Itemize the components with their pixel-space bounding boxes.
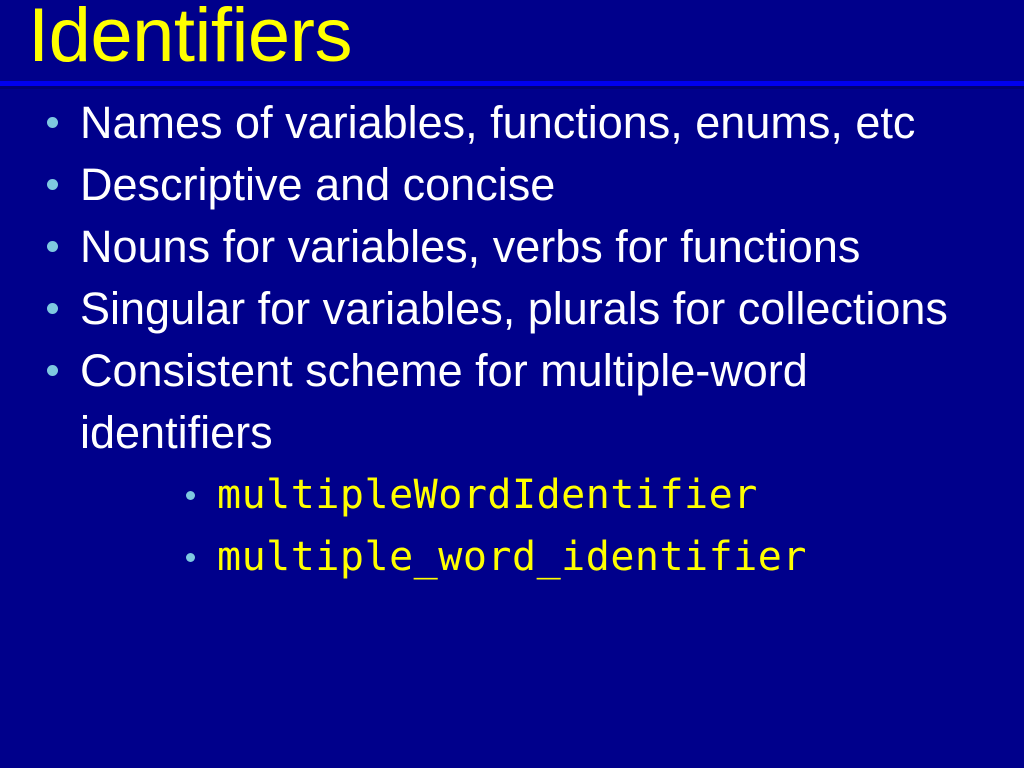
list-item-label: Consistent scheme for multiple-word iden… [80, 345, 808, 458]
list-item-label: Descriptive and concise [80, 159, 555, 210]
sub-list-item: multiple_word_identifier [80, 526, 1004, 588]
list-item-label: Nouns for variables, verbs for functions [80, 221, 860, 272]
slide-title-area: Identifiers [0, 0, 1024, 82]
bullet-dot-icon [47, 303, 58, 314]
sub-bullet-list: multipleWordIdentifier multiple_word_ide… [80, 464, 1004, 588]
sub-bullet-dot-icon [186, 553, 195, 562]
list-item-label: Singular for variables, plurals for coll… [80, 283, 948, 334]
sub-list-item: multipleWordIdentifier [80, 464, 1004, 526]
sub-list-item-label: multipleWordIdentifier [217, 472, 758, 518]
bullet-dot-icon [47, 117, 58, 128]
bullet-dot-icon [47, 365, 58, 376]
list-item: Nouns for variables, verbs for functions [0, 216, 1024, 278]
slide-body: Names of variables, functions, enums, et… [0, 92, 1024, 768]
presentation-slide: Identifiers Names of variables, function… [0, 0, 1024, 768]
list-item: Names of variables, functions, enums, et… [0, 92, 1024, 154]
list-item: Consistent scheme for multiple-word iden… [0, 340, 1024, 588]
title-divider-shadow [0, 86, 1024, 89]
list-item-label: Names of variables, functions, enums, et… [80, 97, 915, 148]
bullet-dot-icon [47, 241, 58, 252]
list-item: Singular for variables, plurals for coll… [0, 278, 1024, 340]
bullet-dot-icon [47, 179, 58, 190]
sub-bullet-dot-icon [186, 491, 195, 500]
list-item: Descriptive and concise [0, 154, 1024, 216]
page-title: Identifiers [28, 0, 352, 80]
sub-list-item-label: multiple_word_identifier [217, 534, 807, 580]
bullet-list: Names of variables, functions, enums, et… [0, 92, 1024, 588]
